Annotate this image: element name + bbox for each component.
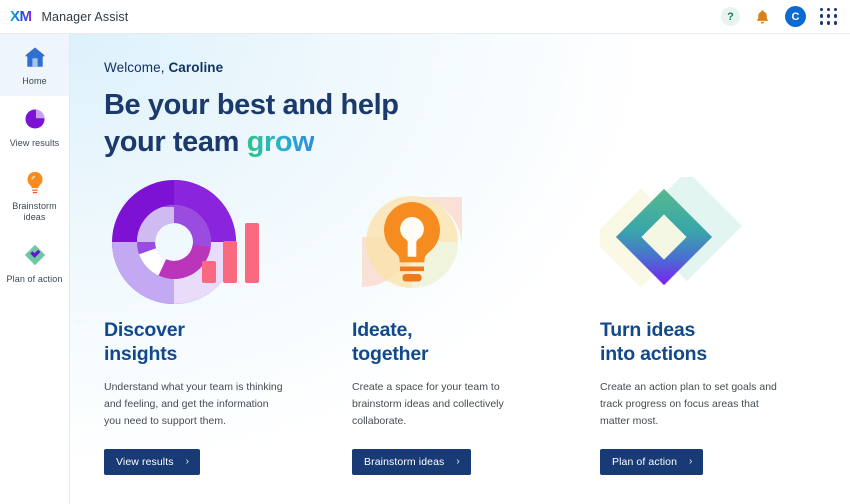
brainstorm-ideas-button[interactable]: Brainstorm ideas › [352,449,471,475]
headline-line-2: your team [104,126,247,158]
sidebar-item-home[interactable]: Home [0,34,69,96]
top-bar-actions: ? C [721,6,838,27]
sidebar-item-plan-of-action[interactable]: Plan of action [0,232,69,294]
diamond-illustration [600,177,848,307]
chevron-right-icon: › [456,457,459,467]
sidebar-item-brainstorm-ideas[interactable]: Brainstorm ideas [0,159,69,233]
grid-dot [834,14,837,17]
lightbulb-icon [22,169,48,195]
grid-dot [820,8,823,11]
help-icon[interactable]: ? [721,7,740,26]
top-bar: XM Manager Assist ? C [0,0,850,34]
card-title: Ideate, together [352,319,600,367]
chevron-right-icon: › [186,457,189,467]
card-title-line-2: insights [104,343,177,365]
page-title: Be your best and help your team grow [104,87,850,161]
grid-dot [834,8,837,11]
grid-dot [834,21,837,24]
card-title-line-2: into actions [600,343,707,365]
sidebar-item-label: Plan of action [7,274,63,285]
xm-logo: XM [10,9,32,24]
sidebar-item-label: Brainstorm ideas [4,201,65,224]
grid-dot [820,21,823,24]
headline-line-1: Be your best and help [104,89,399,121]
card-title-line-1: Discover [104,319,185,341]
app-grid-icon[interactable] [820,8,838,26]
welcome-line: Welcome, Caroline [104,60,850,75]
card-title: Discover insights [104,319,352,367]
home-icon [22,44,48,70]
brand: XM Manager Assist [10,9,128,24]
grid-dot [827,8,830,11]
grid-dot [820,14,823,17]
donut-chart-illustration [104,177,352,307]
card-description: Create a space for your team to brainsto… [352,379,534,430]
card-title-line-2: together [352,343,428,365]
card-title-line-1: Ideate, [352,319,412,341]
sidebar-item-label: Home [22,76,46,87]
pie-chart-icon [22,106,48,132]
app-body: Home View results [0,34,850,504]
plan-of-action-button[interactable]: Plan of action › [600,449,703,475]
avatar[interactable]: C [785,6,806,27]
sidebar-item-label: View results [10,138,60,149]
user-name: Caroline [168,60,223,75]
card-description: Understand what your team is thinking an… [104,379,286,430]
view-results-button[interactable]: View results › [104,449,200,475]
main-content: Welcome, Caroline Be your best and help … [70,34,850,504]
button-label: Plan of action [612,456,677,468]
sidebar: Home View results [0,34,70,504]
manager-assist-app: XM Manager Assist ? C [0,0,850,504]
app-title: Manager Assist [42,10,129,24]
button-label: Brainstorm ideas [364,456,444,468]
diamond-check-icon [22,242,48,268]
card-discover-insights: Discover insights Understand what your t… [104,177,352,475]
card-title-line-1: Turn ideas [600,319,695,341]
notification-bell-icon[interactable] [754,8,771,26]
card-title: Turn ideas into actions [600,319,848,367]
grid-dot [827,14,830,17]
card-description: Create an action plan to set goals and t… [600,379,782,430]
lightbulb-illustration [352,177,600,307]
chevron-right-icon: › [689,457,692,467]
headline-accent-word: grow [247,126,315,158]
welcome-prefix: Welcome, [104,60,165,75]
feature-cards: Discover insights Understand what your t… [104,177,850,475]
button-label: View results [116,456,174,468]
card-turn-ideas-into-actions: Turn ideas into actions Create an action… [600,177,848,475]
card-ideate-together: Ideate, together Create a space for your… [352,177,600,475]
sidebar-item-view-results[interactable]: View results [0,96,69,158]
grid-dot [827,21,830,24]
